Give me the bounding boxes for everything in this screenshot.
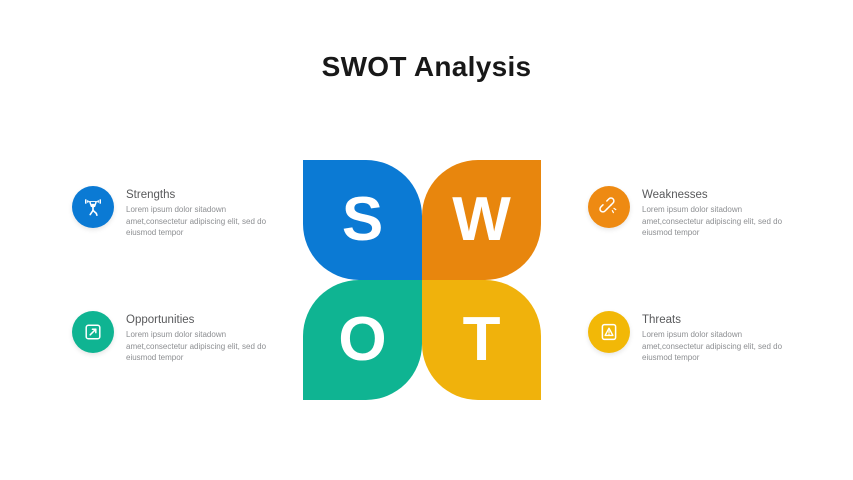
- weaknesses-heading: Weaknesses: [642, 188, 802, 202]
- swot-quadrant-opportunities[interactable]: O: [303, 280, 422, 400]
- swot-item-weaknesses[interactable]: Weaknesses Lorem ipsum dolor sitadown am…: [588, 186, 803, 238]
- swot-letter-s: S: [342, 189, 383, 251]
- warning-triangle-icon: [597, 320, 621, 344]
- weightlifter-icon: [81, 195, 105, 219]
- strengths-heading: Strengths: [126, 188, 286, 202]
- strengths-body: Lorem ipsum dolor sitadown amet,consecte…: [126, 204, 286, 238]
- strengths-text-block: Strengths Lorem ipsum dolor sitadown ame…: [126, 186, 286, 238]
- swot-quadrant-weaknesses[interactable]: W: [422, 160, 541, 280]
- threats-heading: Threats: [642, 313, 802, 327]
- opportunities-icon-badge: [72, 311, 114, 353]
- threats-text-block: Threats Lorem ipsum dolor sitadown amet,…: [642, 311, 802, 363]
- swot-letter-t: T: [463, 309, 501, 371]
- threats-body: Lorem ipsum dolor sitadown amet,consecte…: [642, 329, 802, 363]
- swot-petal-diagram: S W O T: [303, 160, 541, 400]
- swot-item-opportunities[interactable]: Opportunities Lorem ipsum dolor sitadown…: [72, 311, 287, 363]
- opportunities-text-block: Opportunities Lorem ipsum dolor sitadown…: [126, 311, 286, 363]
- swot-letter-w: W: [452, 189, 511, 251]
- opportunities-heading: Opportunities: [126, 313, 286, 327]
- threats-icon-badge: [588, 311, 630, 353]
- growth-arrow-icon: [81, 320, 105, 344]
- strengths-icon-badge: [72, 186, 114, 228]
- weaknesses-icon-badge: [588, 186, 630, 228]
- swot-item-threats[interactable]: Threats Lorem ipsum dolor sitadown amet,…: [588, 311, 803, 363]
- swot-quadrant-threats[interactable]: T: [422, 280, 541, 400]
- opportunities-body: Lorem ipsum dolor sitadown amet,consecte…: [126, 329, 286, 363]
- swot-letter-o: O: [338, 309, 386, 371]
- swot-quadrant-strengths[interactable]: S: [303, 160, 422, 280]
- weaknesses-body: Lorem ipsum dolor sitadown amet,consecte…: [642, 204, 802, 238]
- weaknesses-text-block: Weaknesses Lorem ipsum dolor sitadown am…: [642, 186, 802, 238]
- swot-item-strengths[interactable]: Strengths Lorem ipsum dolor sitadown ame…: [72, 186, 287, 238]
- page-title: SWOT Analysis: [0, 50, 853, 84]
- broken-chain-icon: [597, 195, 621, 219]
